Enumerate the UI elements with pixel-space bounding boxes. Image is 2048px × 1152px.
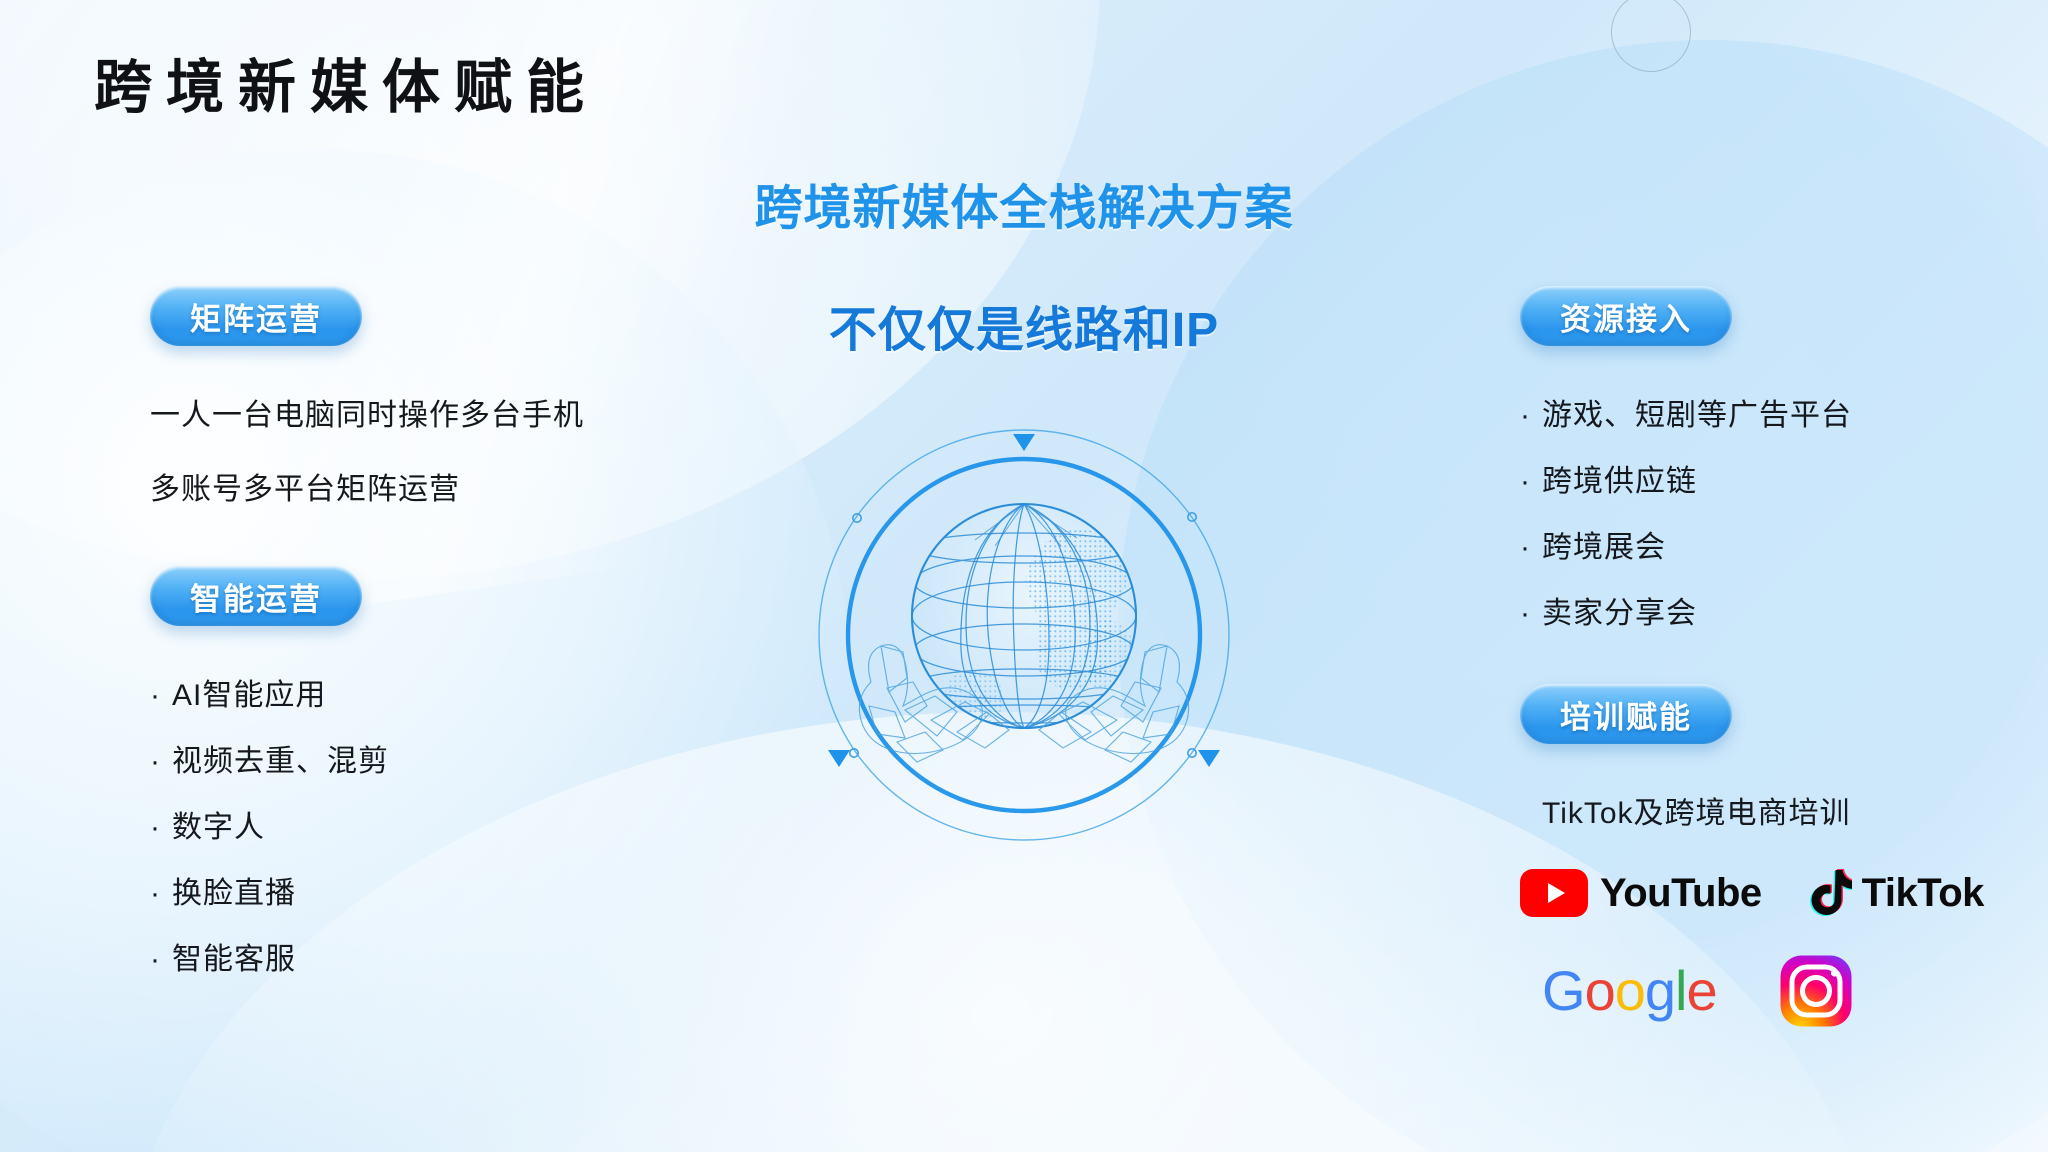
platform-logo-row-1: YouTube TikTok [1520, 868, 2040, 918]
bullet-dot-icon: · [150, 879, 172, 909]
youtube-logo-label: YouTube [1600, 871, 1762, 916]
list-item: · 智能客服 [150, 934, 710, 978]
bullet-dot-icon: · [1520, 467, 1542, 497]
google-logo[interactable]: Google [1542, 963, 1717, 1019]
pill-label-resource-access[interactable]: 资源接入 [1520, 286, 1732, 346]
left-line-1: 一人一台电脑同时操作多台手机 [150, 390, 710, 434]
list-item: · 视频去重、混剪 [150, 736, 710, 780]
left-bullet-2: 视频去重、混剪 [172, 736, 389, 780]
decorative-circle-outline [1611, 0, 1691, 72]
list-item: · 跨境供应链 [1520, 456, 2040, 500]
youtube-play-icon [1520, 869, 1588, 917]
tiktok-logo-label: TikTok [1862, 871, 1984, 916]
list-item: · 卖家分享会 [1520, 588, 2040, 632]
page-title: 跨境新媒体赋能 [94, 40, 598, 124]
bullet-dot-icon: · [150, 813, 172, 843]
right-bullet-1: 游戏、短剧等广告平台 [1542, 390, 1852, 434]
left-bullet-4: 换脸直播 [172, 868, 296, 912]
right-bullet-3: 跨境展会 [1542, 522, 1666, 566]
list-item: · 换脸直播 [150, 868, 710, 912]
tiktok-note-icon [1808, 868, 1852, 918]
list-item: · 游戏、短剧等广告平台 [1520, 390, 2040, 434]
youtube-logo[interactable]: YouTube [1520, 869, 1762, 917]
pill-label-matrix-operations[interactable]: 矩阵运营 [150, 286, 362, 346]
left-bullet-5: 智能客服 [172, 934, 296, 978]
right-column: 资源接入 · 游戏、短剧等广告平台 · 跨境供应链 · 跨境展会 · 卖家分享会 [1520, 286, 2040, 1028]
instagram-logo[interactable] [1779, 954, 1853, 1028]
globe-in-hands-icon [809, 420, 1239, 850]
list-item: · AI智能应用 [150, 670, 710, 714]
pill-label-training-empowerment[interactable]: 培训赋能 [1520, 684, 1732, 744]
left-line-2: 多账号多平台矩阵运营 [150, 464, 710, 508]
bullet-dot-icon: · [1520, 533, 1542, 563]
bullet-dot-icon: · [1520, 401, 1542, 431]
bullet-dot-icon: · [150, 681, 172, 711]
left-bullet-3: 数字人 [172, 802, 265, 846]
tiktok-logo[interactable]: TikTok [1808, 868, 1984, 918]
pill-label-smart-operations[interactable]: 智能运营 [150, 566, 362, 626]
left-bullet-1: AI智能应用 [172, 670, 326, 714]
right-bullet-4: 卖家分享会 [1542, 588, 1697, 632]
left-section-smart: 智能运营 · AI智能应用 · 视频去重、混剪 · 数字人 · 换脸直播 [150, 566, 710, 978]
center-heading: 跨境新媒体全栈解决方案 [634, 168, 1414, 238]
bullet-dot-icon: · [150, 945, 172, 975]
left-section-matrix: 矩阵运营 一人一台电脑同时操作多台手机 多账号多平台矩阵运营 [150, 286, 710, 508]
list-item: · 跨境展会 [1520, 522, 2040, 566]
center-subheading: 不仅仅是线路和IP [634, 290, 1414, 360]
center-heading-block: 跨境新媒体全栈解决方案 不仅仅是线路和IP [634, 168, 1414, 360]
bullet-dot-icon: · [150, 747, 172, 777]
right-section-resources: 资源接入 · 游戏、短剧等广告平台 · 跨境供应链 · 跨境展会 · 卖家分享会 [1520, 286, 2040, 632]
bullet-dot-icon: · [1520, 599, 1542, 629]
right-section-training: 培训赋能 TikTok及跨境电商培训 YouTube TikTok [1520, 684, 2040, 1028]
globe-graphic [809, 420, 1239, 850]
right-bullet-2: 跨境供应链 [1542, 456, 1697, 500]
right-training-line: TikTok及跨境电商培训 [1520, 788, 2040, 832]
platform-logo-row-2: Google [1520, 954, 2040, 1028]
list-item: · 数字人 [150, 802, 710, 846]
slide-canvas: 跨境新媒体赋能 跨境新媒体全栈解决方案 不仅仅是线路和IP [0, 0, 2048, 1152]
left-column: 矩阵运营 一人一台电脑同时操作多台手机 多账号多平台矩阵运营 智能运营 · AI… [150, 286, 710, 978]
